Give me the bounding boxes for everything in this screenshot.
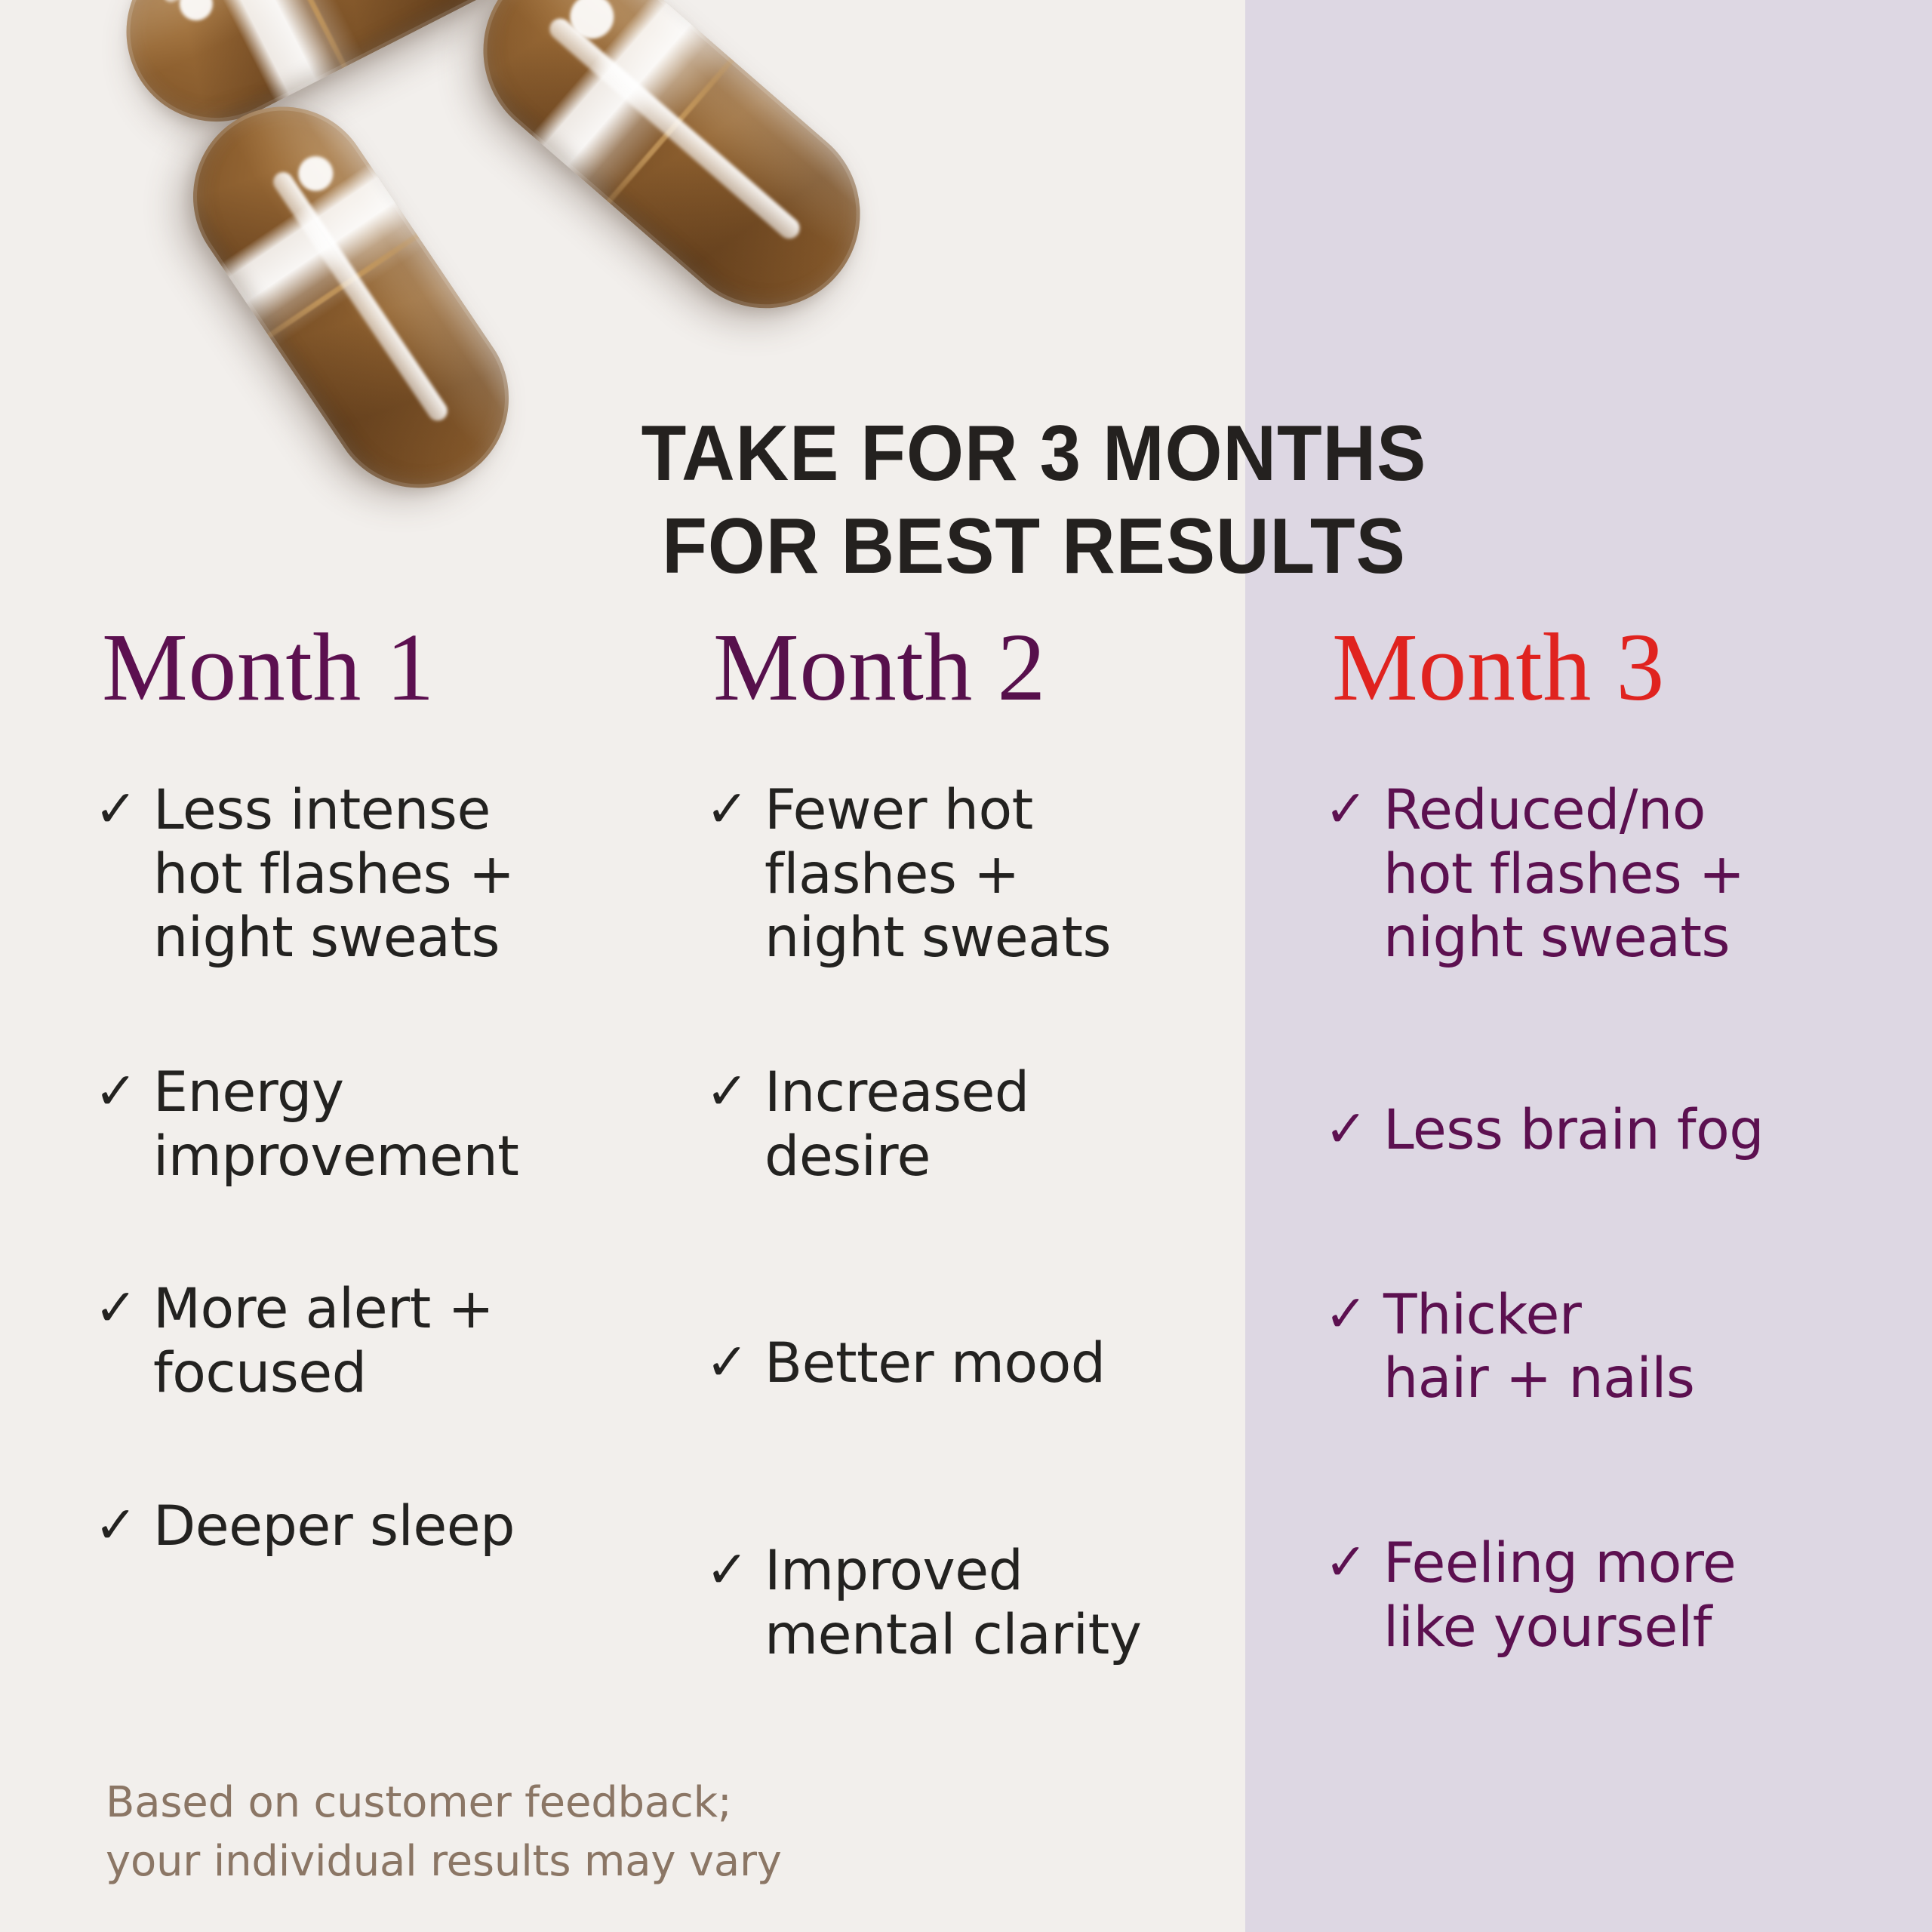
month-columns: Month 1 ✓ Less intense hot flashes + nig… <box>0 619 1932 1713</box>
checkmark-icon: ✓ <box>1324 1532 1383 1594</box>
benefit-text: Feeling more like yourself <box>1383 1532 1736 1660</box>
month-2-benefit-list: ✓ Fewer hot flashes + night sweats ✓ Inc… <box>706 779 1234 1667</box>
disclaimer-text: Based on customer feedback; your individ… <box>106 1774 1087 1892</box>
month-1-benefit-list: ✓ Less intense hot flashes + night sweat… <box>94 779 675 1558</box>
capsule-icon-2 <box>445 0 899 347</box>
benefit-item: ✓ Energy improvement <box>94 1061 675 1189</box>
benefit-item: ✓ Less intense hot flashes + night sweat… <box>94 779 675 971</box>
checkmark-icon: ✓ <box>94 779 153 841</box>
benefit-text: More alert + focused <box>153 1278 494 1405</box>
checkmark-icon: ✓ <box>1324 779 1383 841</box>
month-column-2: Month 2 ✓ Fewer hot flashes + night swea… <box>706 619 1234 1724</box>
month-2-title: Month 2 <box>713 619 1234 715</box>
benefit-item: ✓ Thicker hair + nails <box>1324 1284 1883 1411</box>
checkmark-icon: ✓ <box>94 1278 153 1340</box>
benefit-text: Thicker hair + nails <box>1383 1284 1694 1411</box>
benefit-text: Deeper sleep <box>153 1495 515 1559</box>
benefit-item: ✓ Fewer hot flashes + night sweats <box>706 779 1234 971</box>
checkmark-icon: ✓ <box>94 1495 153 1557</box>
benefit-item: ✓ Increased desire <box>706 1061 1234 1189</box>
headline-line-2: FOR BEST RESULTS <box>573 500 1495 593</box>
benefit-text: Increased desire <box>764 1061 1029 1189</box>
checkmark-icon: ✓ <box>94 1061 153 1123</box>
headline-line-1: TAKE FOR 3 MONTHS <box>573 408 1495 500</box>
benefit-item: ✓ Deeper sleep <box>94 1495 675 1559</box>
benefit-item: ✓ Feeling more like yourself <box>1324 1532 1883 1660</box>
benefit-text: Reduced/no hot flashes + night sweats <box>1383 779 1745 971</box>
checkmark-icon: ✓ <box>1324 1284 1383 1346</box>
checkmark-icon: ✓ <box>706 1061 764 1123</box>
benefit-text: Fewer hot flashes + night sweats <box>764 779 1111 971</box>
benefit-item: ✓ Less brain fog <box>1324 1099 1883 1163</box>
month-column-3: Month 3 ✓ Reduced/no hot flashes + night… <box>1324 619 1883 1717</box>
checkmark-icon: ✓ <box>1324 1099 1383 1161</box>
benefit-item: ✓ Improved mental clarity <box>706 1540 1234 1667</box>
month-3-title: Month 3 <box>1332 619 1883 715</box>
headline: TAKE FOR 3 MONTHS FOR BEST RESULTS <box>573 408 1495 592</box>
month-1-title: Month 1 <box>102 619 675 715</box>
benefit-text: Energy improvement <box>153 1061 518 1189</box>
marketing-graphic: TAKE FOR 3 MONTHS FOR BEST RESULTS Month… <box>0 0 1932 1932</box>
capsule-icon-3 <box>158 72 543 522</box>
benefit-text: Better mood <box>764 1332 1106 1396</box>
benefit-text: Improved mental clarity <box>764 1540 1141 1667</box>
benefit-text: Less brain fog <box>1383 1099 1764 1163</box>
capsule-shell <box>445 0 899 347</box>
month-column-1: Month 1 ✓ Less intense hot flashes + nig… <box>94 619 675 1616</box>
benefit-item: ✓ Reduced/no hot flashes + night sweats <box>1324 779 1883 971</box>
month-3-benefit-list: ✓ Reduced/no hot flashes + night sweats … <box>1324 779 1883 1660</box>
benefit-item: ✓ Better mood <box>706 1332 1234 1396</box>
benefit-item: ✓ More alert + focused <box>94 1278 675 1405</box>
checkmark-icon: ✓ <box>706 779 764 841</box>
benefit-text: Less intense hot flashes + night sweats <box>153 779 515 971</box>
checkmark-icon: ✓ <box>706 1540 764 1601</box>
checkmark-icon: ✓ <box>706 1332 764 1394</box>
